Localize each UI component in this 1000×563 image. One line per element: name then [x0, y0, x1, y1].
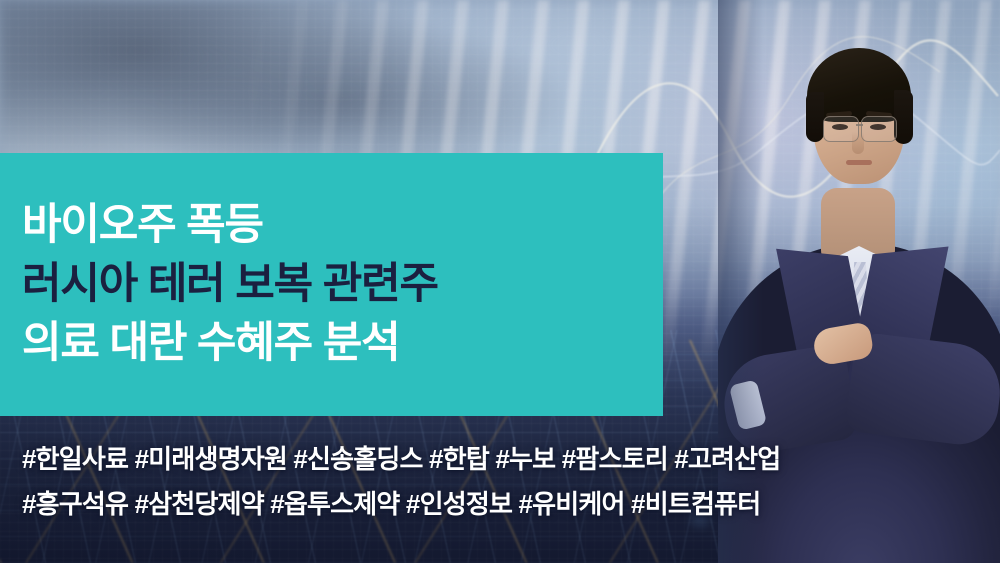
presenter-nose	[852, 132, 864, 154]
headline-line-3: 의료 대란 수혜주 분석	[22, 317, 663, 370]
presenter-mouth	[846, 160, 872, 165]
headline-line-2: 러시아 테러 보복 관련주	[22, 258, 663, 311]
thumbnail-canvas: 바이오주 폭등 러시아 테러 보복 관련주 의료 대란 수혜주 분석 #한일사료…	[0, 0, 1000, 563]
hashtag-block: #한일사료 #미래생명자원 #신송홀딩스 #한탑 #누보 #팜스토리 #고려산업…	[22, 446, 982, 535]
headline-line-1: 바이오주 폭등	[22, 199, 663, 252]
glasses-icon-right-lens	[861, 116, 897, 142]
presenter-hair-side-left	[806, 92, 824, 142]
glasses-icon-bridge	[856, 124, 863, 126]
headline-text-block: 바이오주 폭등 러시아 테러 보복 관련주 의료 대란 수혜주 분석	[22, 153, 663, 416]
hashtag-line-1: #한일사료 #미래생명자원 #신송홀딩스 #한탑 #누보 #팜스토리 #고려산업	[22, 446, 982, 473]
hashtag-line-2: #흥구석유 #삼천당제약 #옵투스제약 #인성정보 #유비케어 #비트컴퓨터	[22, 491, 982, 518]
